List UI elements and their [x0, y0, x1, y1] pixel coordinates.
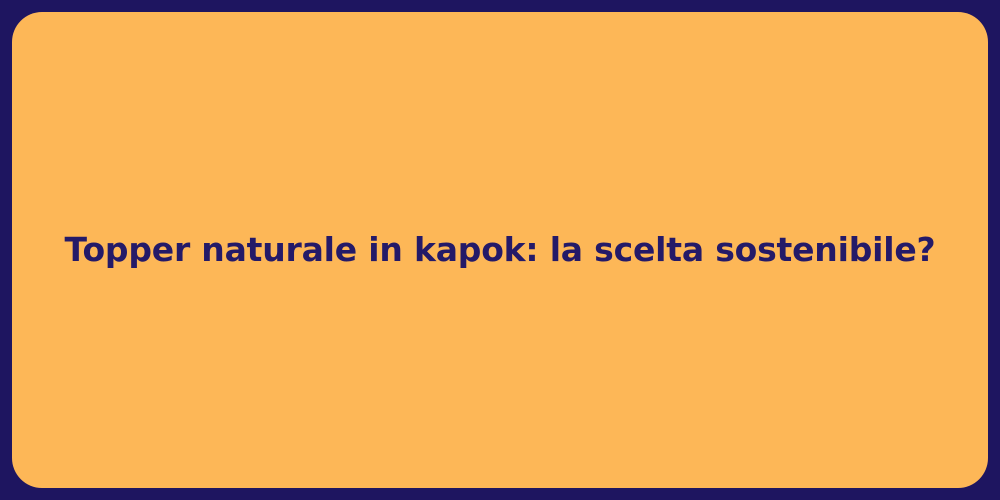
- banner-card: Topper naturale in kapok: la scelta sost…: [12, 12, 988, 488]
- banner-title: Topper naturale in kapok: la scelta sost…: [25, 229, 976, 270]
- outer-frame: Topper naturale in kapok: la scelta sost…: [0, 0, 1000, 500]
